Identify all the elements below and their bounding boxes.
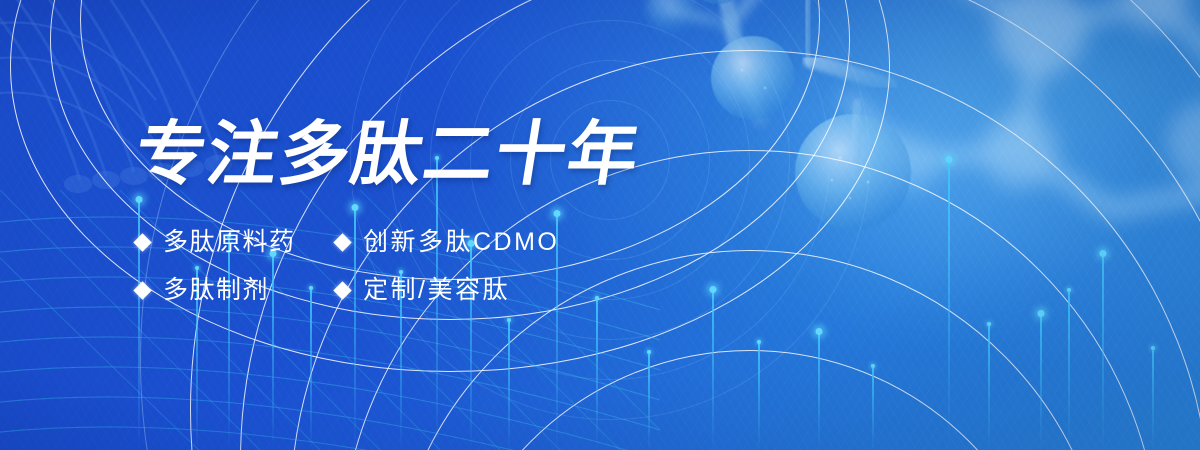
banner-content: 专注多肽二十年 多肽原料药 创新多肽CDMO 多肽制剂 [0, 0, 1200, 450]
feature-row: 多肽原料药 创新多肽CDMO [136, 218, 559, 266]
diamond-bullet-icon [333, 233, 351, 251]
feature-label: 多肽原料药 [163, 230, 296, 255]
page-title: 专注多肽二十年 [130, 119, 645, 189]
feature-item-innovative-cdmo: 创新多肽CDMO [336, 230, 559, 255]
diamond-bullet-icon [133, 233, 151, 251]
diamond-bullet-icon [133, 281, 151, 299]
feature-item-peptide-api: 多肽原料药 [136, 230, 336, 255]
feature-item-custom-cosmetic-peptide: 定制/美容肽 [336, 278, 510, 303]
feature-item-peptide-formulation: 多肽制剂 [136, 278, 336, 303]
feature-label: 定制/美容肽 [363, 278, 510, 303]
feature-row: 多肽制剂 定制/美容肽 [136, 266, 559, 314]
feature-label: 多肽制剂 [163, 278, 269, 303]
hero-banner: 专注多肽二十年 多肽原料药 创新多肽CDMO 多肽制剂 [0, 0, 1200, 450]
feature-label: 创新多肽CDMO [363, 230, 559, 255]
diamond-bullet-icon [333, 281, 351, 299]
feature-list: 多肽原料药 创新多肽CDMO 多肽制剂 定制/美容肽 [136, 218, 559, 314]
